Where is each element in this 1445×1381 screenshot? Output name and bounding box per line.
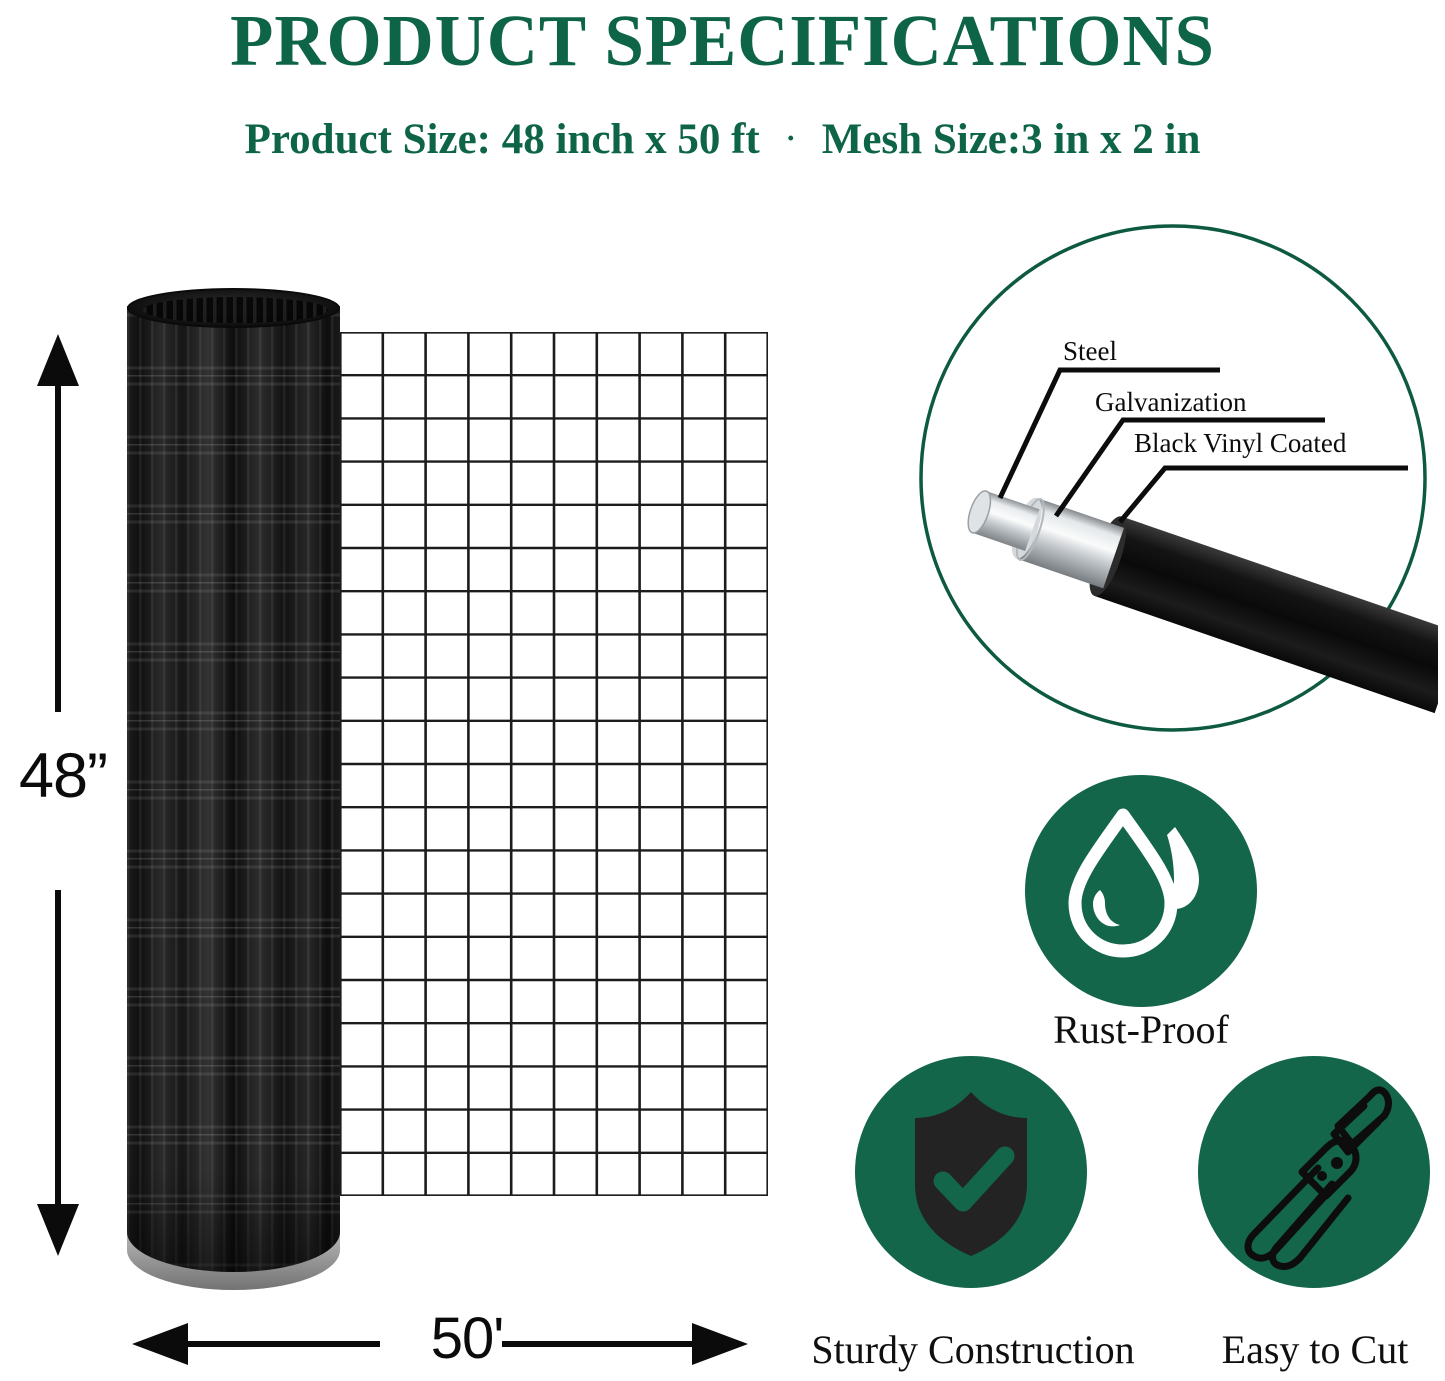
- pliers-icon: [1248, 1090, 1389, 1267]
- product-size-text: Product Size: 48 inch x 50 ft: [245, 116, 760, 163]
- shield-check-icon: [915, 1092, 1027, 1256]
- width-dimension-label: 50': [402, 1310, 532, 1368]
- roll-bottom-shading: [127, 1170, 340, 1290]
- roll-vertical-strands: [127, 306, 340, 1272]
- spec-subtitle: Product Size: 48 inch x 50 ft·Mesh Size:…: [0, 118, 1445, 161]
- mesh-size-text: Mesh Size:3 in x 2 in: [822, 116, 1201, 163]
- callout-label-steel: Steel: [1063, 338, 1117, 365]
- water-drop-icon: [1075, 815, 1199, 951]
- roll-top-cap: [127, 288, 340, 328]
- feature-badge-easy-to-cut: [1198, 1056, 1430, 1288]
- feature-badge-sturdy-construction: [855, 1056, 1087, 1288]
- callout-label-galvanization: Galvanization: [1095, 389, 1246, 416]
- wire-mesh-grid-panel: [340, 332, 768, 1196]
- page-title: PRODUCT SPECIFICATIONS: [22, 4, 1424, 77]
- product-specifications-infographic: PRODUCT SPECIFICATIONS Product Size: 48 …: [0, 0, 1445, 1381]
- callout-label-black-vinyl-coated: Black Vinyl Coated: [1134, 430, 1346, 457]
- wire-construction-callout: [908, 222, 1438, 734]
- feature-badge-rust-proof: [1025, 775, 1257, 1007]
- feature-label-rust-proof: Rust-Proof: [1009, 1010, 1273, 1050]
- feature-label-sturdy-construction: Sturdy Construction: [795, 1330, 1151, 1370]
- feature-label-easy-to-cut: Easy to Cut: [1190, 1330, 1440, 1370]
- subtitle-separator-dot: ·: [760, 124, 822, 154]
- wire-mesh-roll: [127, 288, 340, 1290]
- height-dimension-label: 48”: [0, 745, 126, 808]
- roll-top-cap-inner: [143, 297, 328, 323]
